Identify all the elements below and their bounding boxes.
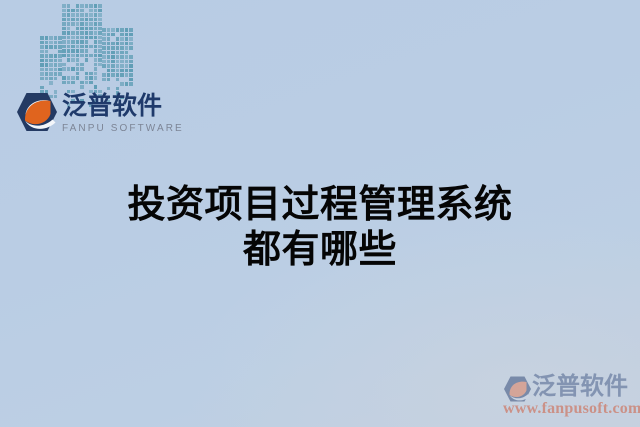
poster-canvas: 泛普软件 FANPU SOFTWARE 投资项目过程管理系统 都有哪些 泛普软件… — [0, 0, 640, 427]
pixel-city-skyline-icon — [38, 2, 134, 88]
brand-name-en: FANPU SOFTWARE — [62, 122, 174, 135]
fanpu-hexagon-logo-icon — [14, 91, 58, 133]
brand-name-cn: 泛普软件 — [62, 90, 174, 121]
watermark-url: www.fanpusoft.com — [503, 399, 640, 419]
watermark: 泛普软件 www.fanpusoft.com — [498, 367, 636, 423]
page-title-line-2: 都有哪些 — [0, 227, 640, 272]
page-title: 投资项目过程管理系统 都有哪些 — [0, 182, 640, 272]
page-title-line-1: 投资项目过程管理系统 — [0, 182, 640, 227]
brand-logo-lockup: 泛普软件 FANPU SOFTWARE — [12, 90, 172, 140]
brand-wordmark: 泛普软件 FANPU SOFTWARE — [62, 90, 174, 135]
watermark-brand-name: 泛普软件 — [532, 371, 628, 401]
